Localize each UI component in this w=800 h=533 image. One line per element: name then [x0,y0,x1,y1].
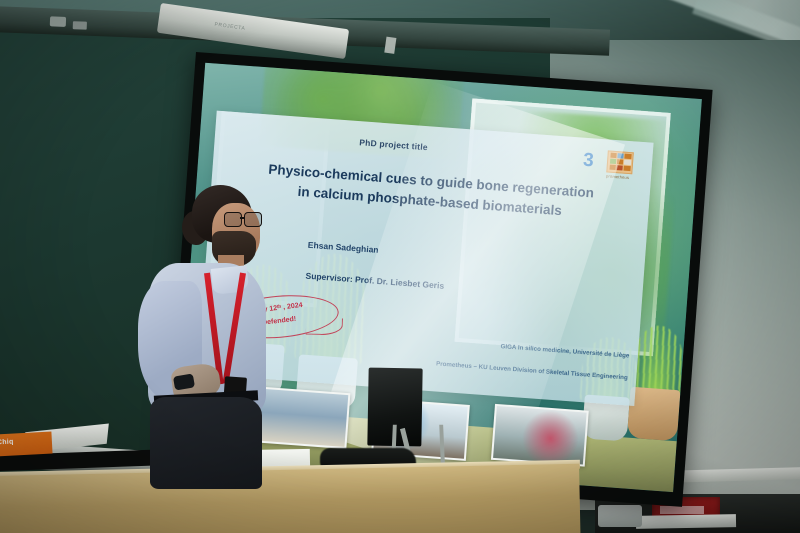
prometheus-logo: 3 prometheus [582,148,640,182]
red-box-label [660,506,704,514]
glasses-icon [224,212,262,226]
slide-photo-3 [491,404,589,466]
trousers [150,397,262,489]
shelf-object [598,505,642,527]
slide-affiliation-2: Prometheus – KU Leuven Division of Skele… [436,360,628,381]
photo-scene: PROJECTA PhD project title [0,0,800,533]
desk [0,464,581,533]
screen-brand-label: PROJECTA [214,22,246,32]
rail-clip-icon [50,16,66,27]
white-paper-stack [636,514,736,529]
orange-box: Chiq [0,431,53,456]
slide-author: Ehsan Sadeghian [308,239,379,254]
orange-box-label: Chiq [0,438,14,446]
logo-grid-icon [606,150,634,174]
presenter [120,185,290,485]
logo-mark: 3 [582,150,594,170]
slide-supervisor: Supervisor: Prof. Dr. Liesbet Geris [305,271,444,291]
slide-eyebrow: PhD project title [359,137,428,152]
logo-caption: prometheus [606,173,629,180]
slide-affiliation-1: GIGA In silico medicine, Université de L… [500,344,629,360]
